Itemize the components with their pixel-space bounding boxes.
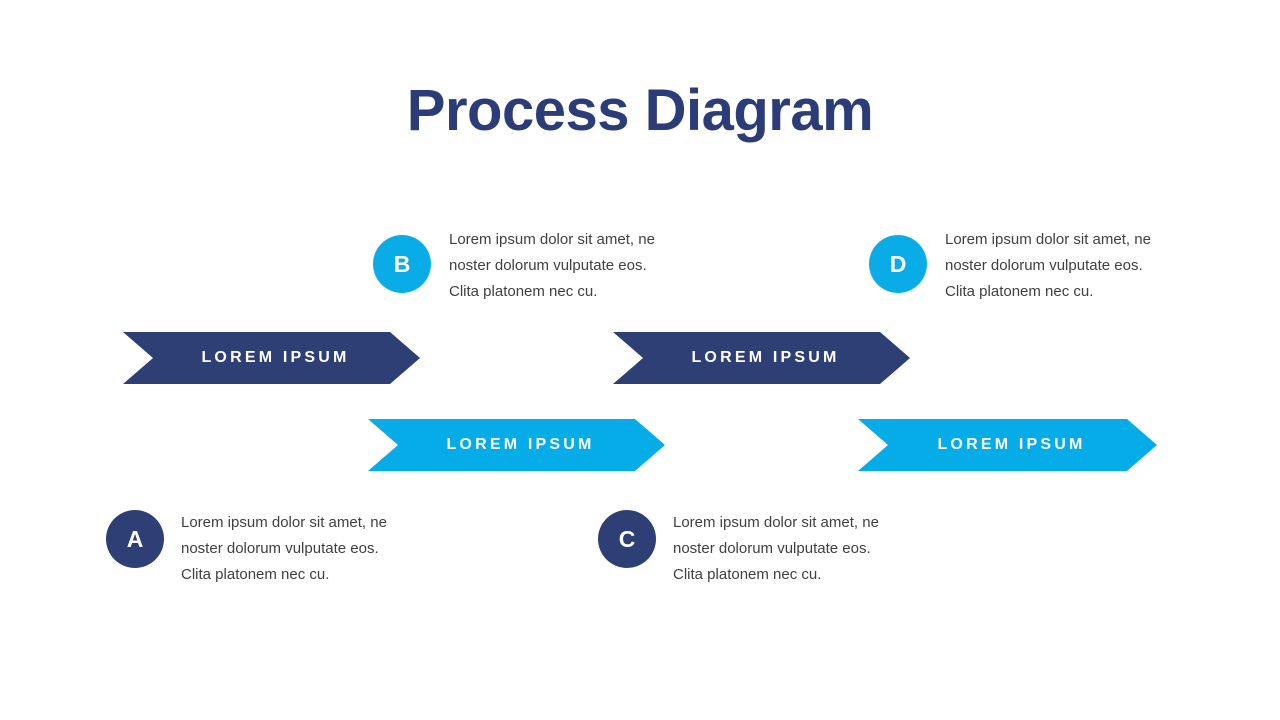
slide-canvas: Process Diagram B Lorem ipsum dolor sit … [0, 0, 1280, 720]
process-chevron-1[interactable]: LOREM IPSUM [123, 332, 420, 384]
step-description-d: Lorem ipsum dolor sit amet, ne noster do… [945, 227, 1157, 305]
chevron-label-3: LOREM IPSUM [446, 436, 594, 454]
chevron-label-4: LOREM IPSUM [937, 436, 1085, 454]
step-description-a: Lorem ipsum dolor sit amet, ne noster do… [181, 510, 393, 588]
step-b: B Lorem ipsum dolor sit amet, ne noster … [373, 227, 661, 305]
step-badge-a: A [106, 510, 164, 568]
page-title: Process Diagram [0, 78, 1280, 145]
process-chevron-2[interactable]: LOREM IPSUM [613, 332, 910, 384]
step-c: C Lorem ipsum dolor sit amet, ne noster … [598, 510, 885, 588]
step-a: A Lorem ipsum dolor sit amet, ne noster … [106, 510, 393, 588]
step-description-b: Lorem ipsum dolor sit amet, ne noster do… [449, 227, 661, 305]
chevron-label-2: LOREM IPSUM [691, 349, 839, 367]
step-description-c: Lorem ipsum dolor sit amet, ne noster do… [673, 510, 885, 588]
step-badge-d: D [869, 235, 927, 293]
step-badge-b: B [373, 235, 431, 293]
step-badge-c: C [598, 510, 656, 568]
process-chevron-4[interactable]: LOREM IPSUM [858, 419, 1157, 471]
step-d: D Lorem ipsum dolor sit amet, ne noster … [869, 227, 1157, 305]
chevron-label-1: LOREM IPSUM [201, 349, 349, 367]
process-chevron-3[interactable]: LOREM IPSUM [368, 419, 665, 471]
